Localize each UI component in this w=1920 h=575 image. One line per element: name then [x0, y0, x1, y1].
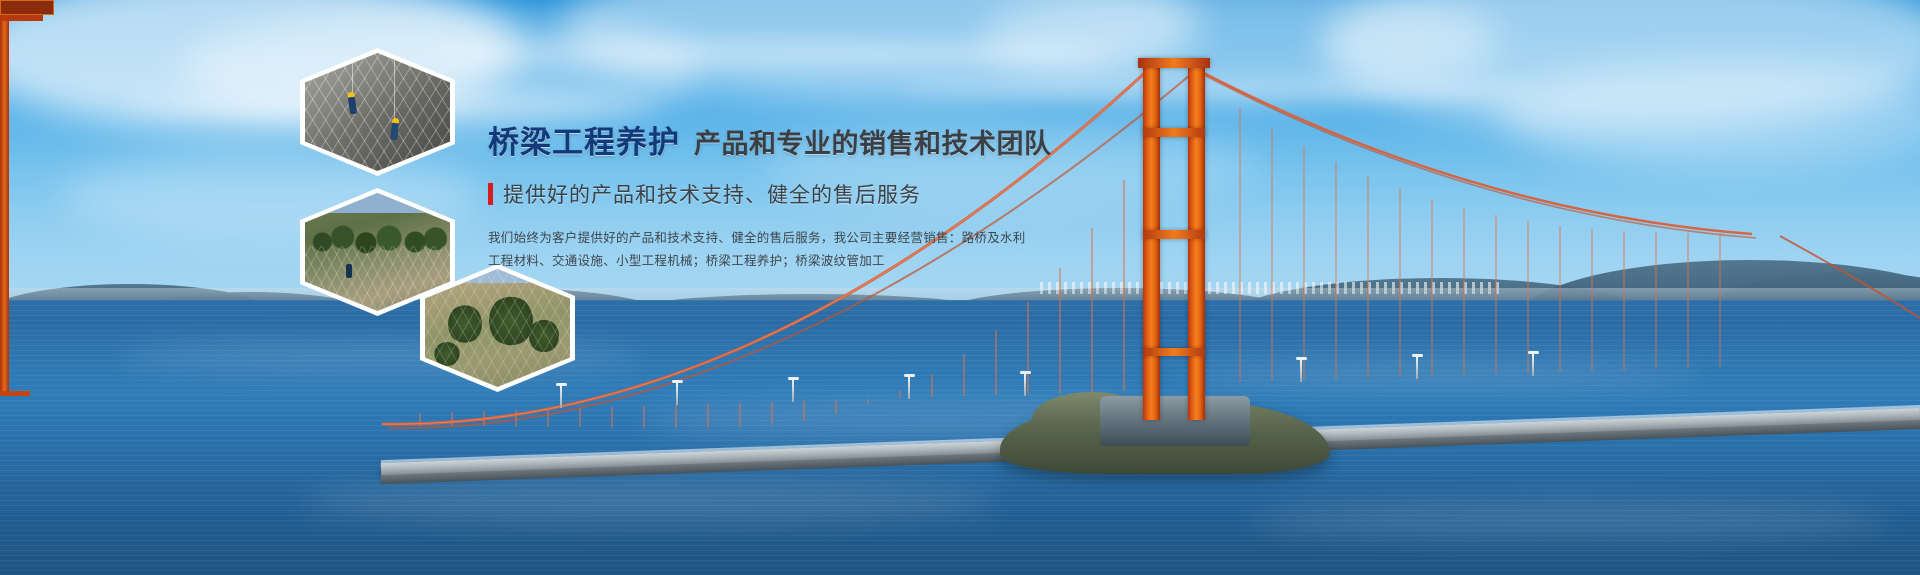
dry-slope	[425, 269, 570, 387]
bridge-tower-crossbeam	[1143, 230, 1205, 239]
deck-lamp	[560, 386, 562, 408]
hex-thumbnail-image	[305, 53, 450, 171]
hex-thumbnail-image	[425, 269, 570, 387]
bridge-tower-right-leg	[1188, 60, 1205, 420]
bridge-tower-crossbeam	[1143, 348, 1205, 356]
bridge-pier	[1100, 396, 1250, 446]
bridge-cables	[0, 0, 1920, 575]
deck-lamp	[1416, 357, 1418, 379]
slope-mesh-overlay	[425, 269, 570, 387]
deck-lamp	[1024, 374, 1026, 396]
deck-lamp	[1532, 354, 1534, 376]
suspension-bridge	[0, 0, 1920, 575]
banner-text-block: 桥梁工程养护 产品和专业的销售和技术团队 提供好的产品和技术支持、健全的售后服务…	[488, 128, 1048, 272]
banner-subheadline: 提供好的产品和技术支持、健全的售后服务	[488, 179, 1048, 209]
deck-lamp	[676, 383, 678, 405]
paragraph-line-1: 我们始终为客户提供好的产品和技术支持、健全的售后服务，我公司主要经营销售：路桥及…	[488, 226, 908, 249]
safety-rope	[394, 53, 395, 125]
paragraph-line-2: 工程材料、交通设施、小型工程机械；桥梁工程养护；桥梁波纹管加工	[488, 249, 908, 272]
deck-lamp	[908, 377, 910, 399]
headline-secondary: 产品和专业的销售和技术团队	[694, 131, 1052, 158]
accent-bar-icon	[488, 183, 493, 205]
deck-lamp	[792, 380, 794, 402]
netting-overlay	[305, 53, 450, 171]
banner-paragraph: 我们始终为客户提供好的产品和技术支持、健全的售后服务，我公司主要经营销售：路桥及…	[488, 226, 908, 272]
hero-banner: 桥梁工程养护 产品和专业的销售和技术团队 提供好的产品和技术支持、健全的售后服务…	[0, 0, 1920, 575]
deck-lamp	[1300, 360, 1302, 382]
banner-headline: 桥梁工程养护 产品和专业的销售和技术团队	[488, 128, 1048, 159]
bridge-tower-cap	[1138, 58, 1210, 68]
bridge-tower-left-leg	[1143, 60, 1160, 420]
worker-figure	[346, 264, 352, 278]
subheadline-text: 提供好的产品和技术支持、健全的售后服务	[503, 179, 921, 209]
bridge-tower-crossbeam	[1143, 128, 1205, 137]
headline-primary: 桥梁工程养护	[488, 128, 680, 159]
